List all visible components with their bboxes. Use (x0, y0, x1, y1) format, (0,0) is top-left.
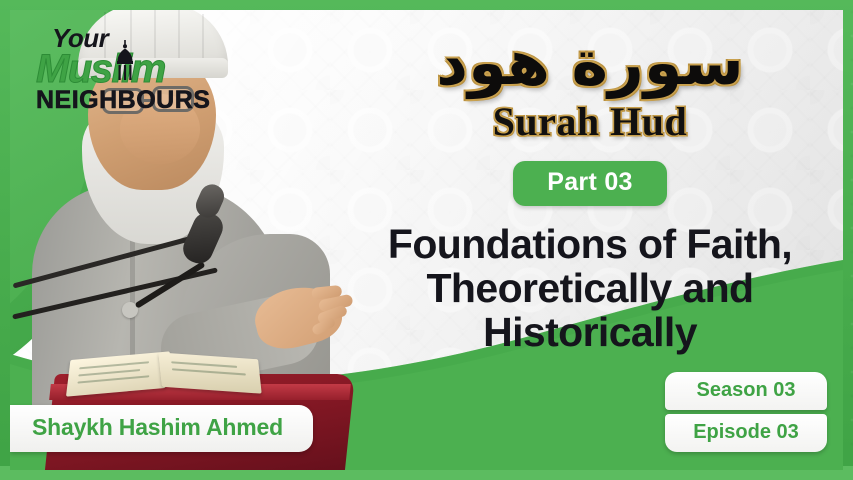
latin-surah-title: Surah Hud (340, 98, 840, 145)
video-thumbnail: Your Muslim NEIGHBOURS (0, 0, 853, 480)
title-block: سورة هود Surah Hud Part 03 Foundations o… (340, 24, 840, 354)
speaker-name-banner[interactable]: Shaykh Hashim Ahmed (10, 405, 313, 452)
season-badge[interactable]: Season 03 (665, 372, 827, 410)
channel-logo[interactable]: Your Muslim NEIGHBOURS (36, 26, 216, 113)
logo-text-neighbours: NEIGHBOURS (36, 88, 216, 113)
lecture-title-line-1: Foundations of Faith, (340, 222, 840, 266)
episode-badge[interactable]: Episode 03 (665, 414, 827, 452)
book-page-right (158, 352, 261, 393)
mosque-minaret-icon (114, 40, 136, 80)
logo-muslim-row: Muslim (36, 49, 216, 91)
thumbnail-card: Your Muslim NEIGHBOURS (10, 10, 843, 470)
arabic-surah-title: سورة هود (340, 24, 840, 102)
book-page-left (66, 351, 170, 396)
lecture-title-line-2: Theoretically and (340, 266, 840, 310)
lecture-title-line-3: Historically (340, 310, 840, 354)
logo-text-muslim: Muslim (36, 47, 165, 91)
season-episode-group: Season 03 Episode 03 (665, 372, 827, 452)
open-book (68, 352, 258, 392)
lecture-title: Foundations of Faith, Theoretically and … (340, 222, 840, 355)
speaker-name: Shaykh Hashim Ahmed (32, 414, 283, 440)
part-badge[interactable]: Part 03 (513, 161, 667, 206)
